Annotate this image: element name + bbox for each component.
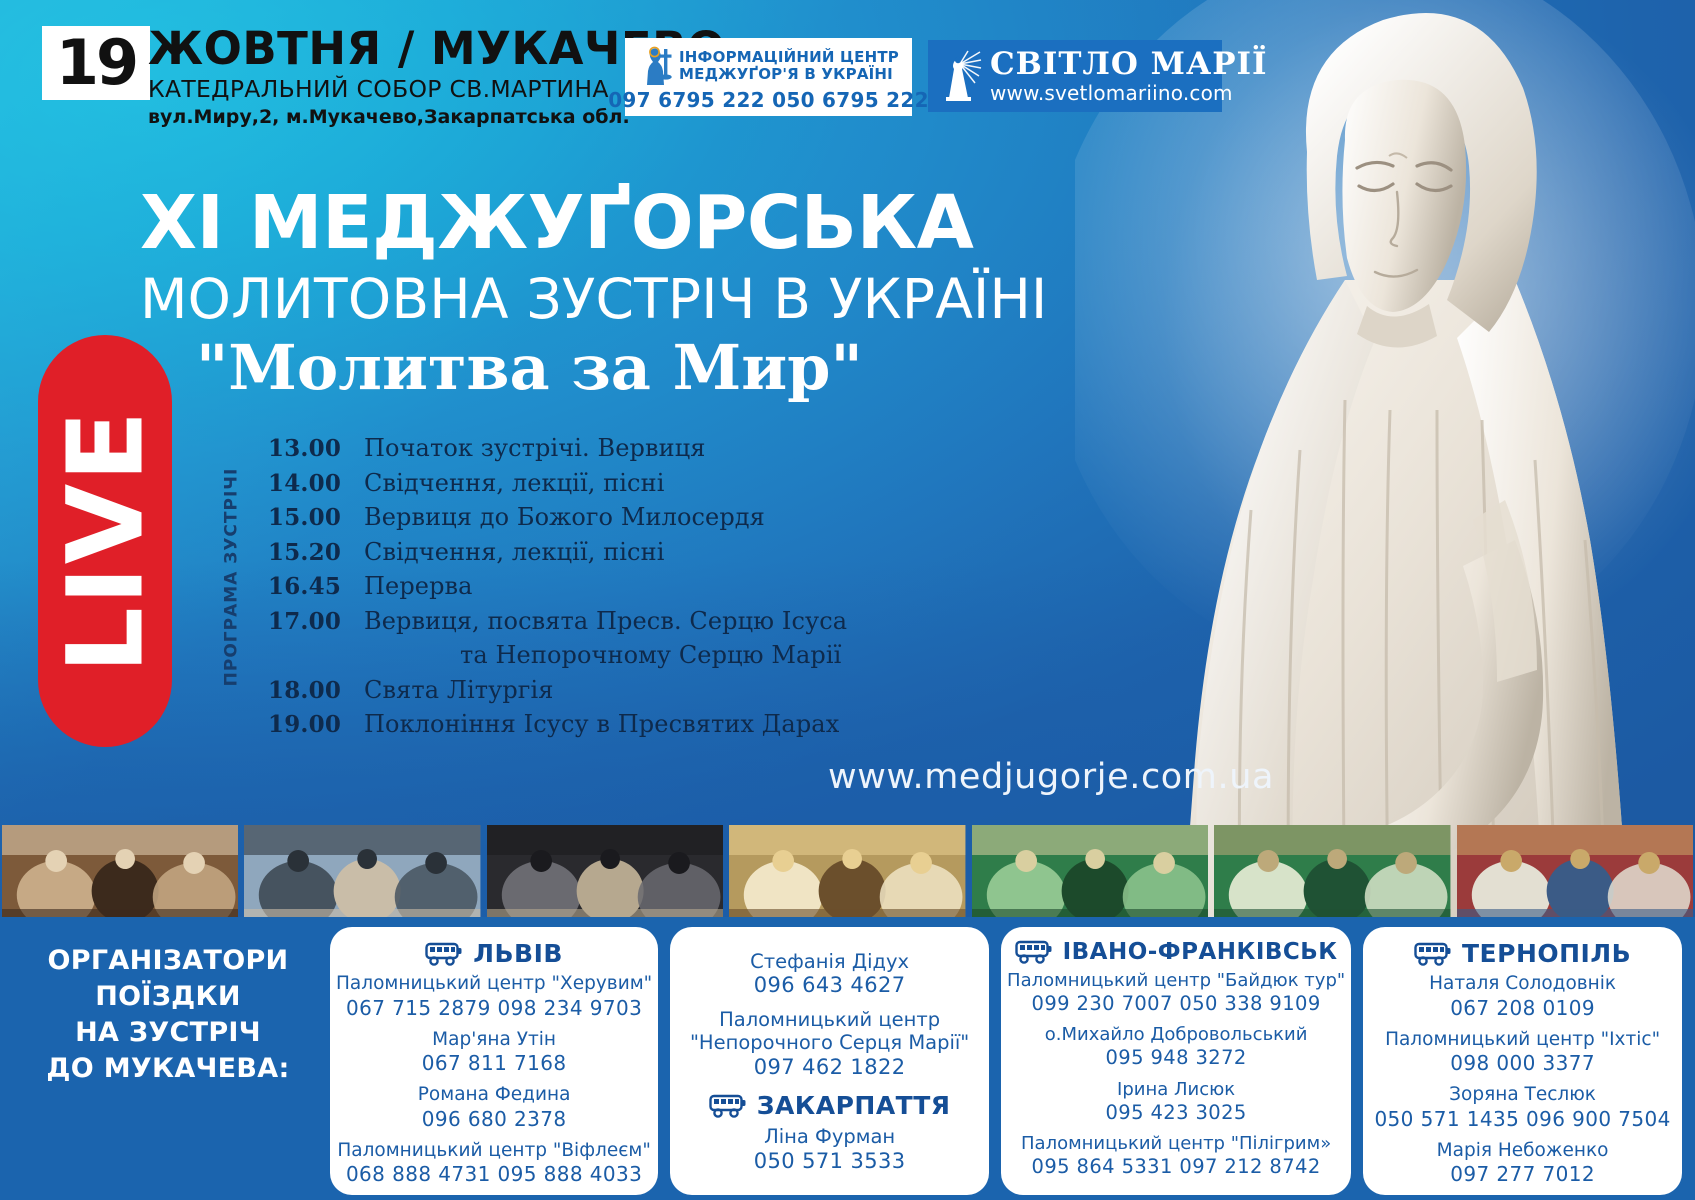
schedule-row: 19.00Поклоніння Ісусу в Пресвятих Дарах: [268, 710, 888, 745]
organizer-city-row: ЛЬВІВ: [425, 939, 563, 968]
organizer-contact-name: о.Михайло Добровольський: [1045, 1024, 1308, 1046]
organizer-city-name: ЗАКАРПАТТЯ: [757, 1091, 951, 1120]
svitlo-marii-title: СВІТЛО МАРІЇ: [990, 49, 1268, 80]
info-center-line2: МЕДЖУҐОР'Я В УКРАЇНІ: [679, 66, 899, 83]
organizers-heading-line: ОРГАНІЗАТОРИ: [18, 943, 318, 979]
organizer-contact-phone[interactable]: 068 888 4731 095 888 4033: [337, 1162, 651, 1186]
organizer-contact-phone[interactable]: 098 000 3377: [1385, 1051, 1660, 1075]
schedule-row: 18.00Свята Літургія: [268, 676, 888, 711]
schedule-description: Свята Літургія: [364, 676, 554, 704]
event-day-box: 19: [42, 26, 150, 100]
photo-strip: [0, 825, 1695, 917]
programme-schedule: 13.00Початок зустрічі. Вервиця14.00Свідч…: [268, 434, 888, 745]
svitlo-marii-url[interactable]: www.svetlomariino.com: [990, 83, 1268, 103]
poster-title-line2: МОЛИТОВНА ЗУСТРІЧ В УКРАЇНІ: [140, 272, 1047, 327]
schedule-time: 15.20: [268, 539, 364, 566]
organizer-contact-phone[interactable]: 067 208 0109: [1429, 996, 1616, 1020]
schedule-time: 13.00: [268, 435, 364, 462]
bus-icon: [425, 941, 463, 967]
organizer-contact-name: Зоряна Теслюк: [1374, 1084, 1670, 1107]
organizer-contact-name: Стефанія Дідух: [750, 950, 909, 974]
organizers-heading-line: НА ЗУСТРІЧ: [18, 1015, 318, 1051]
organizer-contact-block: Зоряна Теслюк050 571 1435 096 900 7504: [1374, 1084, 1670, 1131]
organizer-contact-block: Наталя Солодовнік067 208 0109: [1429, 973, 1616, 1020]
organizer-contact-phone[interactable]: 095 423 3025: [1105, 1101, 1246, 1124]
schedule-time: 14.00: [268, 470, 364, 497]
organizers-section: ОРГАНІЗАТОРИПОЇЗДКИНА ЗУСТРІЧДО МУКАЧЕВА…: [0, 917, 1695, 1200]
organizer-contact-block: Романа Федина096 680 2378: [418, 1084, 571, 1131]
organizer-contact-phone[interactable]: 095 864 5331 097 212 8742: [1021, 1155, 1331, 1178]
organizer-card: Стефанія Дідух096 643 4627Паломницький ц…: [670, 927, 989, 1195]
organizers-heading-line: ПОЇЗДКИ: [18, 979, 318, 1015]
poster-title-line1: XI МЕДЖУҐОРСЬКА: [140, 186, 973, 260]
schedule-description: Свідчення, лекції, пісні: [364, 469, 664, 497]
photo-altar-monstrance: [729, 825, 965, 917]
photo-bishops-in-green: [972, 825, 1208, 917]
schedule-description: Перерва: [364, 572, 473, 600]
organizer-contact-phone[interactable]: 067 811 7168: [422, 1051, 567, 1075]
organizer-city-name: ТЕРНОПІЛЬ: [1462, 939, 1631, 968]
organizer-contact-phone[interactable]: 096 680 2378: [418, 1107, 571, 1131]
poster-title-line3: "Молитва за Мир": [196, 337, 863, 399]
organizer-contact-name: Паломницький центр "Іхтіс": [1385, 1029, 1660, 1052]
organizer-contact-phone[interactable]: 097 277 7012: [1437, 1162, 1609, 1186]
schedule-time: 15.00: [268, 504, 364, 531]
photo-liturgy-celebration: [1457, 825, 1693, 917]
programme-vertical-label: ПРОГРАМА ЗУСТРІЧІ: [216, 437, 246, 717]
organizer-contact-name: Паломницький центр "Пілігрим»: [1021, 1133, 1331, 1155]
schedule-description: та Непорочному Серцю Марії: [364, 641, 841, 669]
organizer-contact-block: Ліна Фурман050 571 3533: [754, 1125, 906, 1174]
schedule-row: та Непорочному Серцю Марії: [268, 641, 888, 676]
organizer-contact-phone[interactable]: 050 571 1435 096 900 7504: [1374, 1107, 1670, 1131]
programme-label-text: ПРОГРАМА ЗУСТРІЧІ: [221, 468, 241, 687]
schedule-row: 15.20Свідчення, лекції, пісні: [268, 538, 888, 573]
svitlo-marii-logo[interactable]: СВІТЛО МАРІЇ www.svetlomariino.com: [928, 40, 1222, 112]
bus-icon: [709, 1093, 747, 1119]
organizer-city-name: ІВАНО-ФРАНКІВСЬК: [1063, 939, 1338, 965]
radiant-statue-icon: [940, 50, 982, 102]
photo-clergy-in-black: [487, 825, 723, 917]
organizer-contact-phone[interactable]: 096 643 4627: [750, 973, 909, 998]
organizer-contact-block: Паломницький центр "Віфлеєм"068 888 4731…: [337, 1140, 651, 1187]
schedule-row: 14.00Свідчення, лекції, пісні: [268, 469, 888, 504]
live-badge: LIVE: [38, 335, 172, 747]
event-website[interactable]: www.medjugorje.com.ua: [828, 757, 1274, 797]
schedule-description: Поклоніння Ісусу в Пресвятих Дарах: [364, 710, 839, 738]
organizer-contact-phone[interactable]: 067 715 2879 098 234 9703: [336, 996, 652, 1020]
organizer-contact-phone[interactable]: 099 230 7007 050 338 9109: [1007, 992, 1345, 1015]
organizer-contact-block: Ірина Лисюк095 423 3025: [1105, 1079, 1246, 1124]
organizer-contact-phone[interactable]: 095 948 3272: [1045, 1046, 1308, 1069]
schedule-row: 13.00Початок зустрічі. Вервиця: [268, 434, 888, 469]
organizer-contact-name: Паломницький центр "Байдюк тур": [1007, 970, 1345, 992]
schedule-time: 17.00: [268, 608, 364, 635]
schedule-time: 18.00: [268, 677, 364, 704]
organizer-contact-name: Ірина Лисюк: [1105, 1079, 1246, 1101]
organizers-heading: ОРГАНІЗАТОРИПОЇЗДКИНА ЗУСТРІЧДО МУКАЧЕВА…: [18, 943, 318, 1087]
organizer-contact-name: Паломницький центр: [690, 1008, 969, 1032]
organizer-city-row: ТЕРНОПІЛЬ: [1414, 939, 1631, 968]
organizer-card: ТЕРНОПІЛЬНаталя Солодовнік067 208 0109Па…: [1363, 927, 1682, 1195]
bus-icon: [1015, 939, 1053, 965]
organizer-contact-phone[interactable]: 097 462 1822: [690, 1055, 969, 1080]
organizer-contact-block: Мар'яна Утін067 811 7168: [422, 1029, 567, 1076]
organizer-city-name: ЛЬВІВ: [473, 939, 563, 968]
organizer-cards: ЛЬВІВПаломницький центр "Херувим"067 715…: [330, 927, 1682, 1195]
poster-root: 19 ЖОВТНЯ / МУКАЧЕВО КАТЕДРАЛЬНИЙ СОБОР …: [0, 0, 1695, 1200]
schedule-row: 15.00Вервиця до Божого Милосердя: [268, 503, 888, 538]
organizer-contact-name: Паломницький центр "Херувим": [336, 973, 652, 996]
schedule-row: 16.45Перерва: [268, 572, 888, 607]
schedule-row: 17.00Вервиця, посвята Пресв. Серцю Ісуса: [268, 607, 888, 642]
schedule-time: 19.00: [268, 711, 364, 738]
organizer-contact-name: Мар'яна Утін: [422, 1029, 567, 1052]
organizer-contact-name: Наталя Солодовнік: [1429, 973, 1616, 996]
organizer-card: ІВАНО-ФРАНКІВСЬКПаломницький центр "Байд…: [1001, 927, 1351, 1195]
info-center-phones: 097 6795 222 050 6795 222: [608, 88, 929, 112]
photo-priests-at-altar: [1214, 825, 1450, 917]
organizer-card: ЛЬВІВПаломницький центр "Херувим"067 715…: [330, 927, 658, 1195]
photo-woman-and-man-seated: [244, 825, 480, 917]
bus-icon: [1414, 941, 1452, 967]
organizer-contact-name-2: "Непорочного Серця Марії": [690, 1031, 969, 1055]
schedule-description: Вервиця до Божого Милосердя: [364, 503, 765, 531]
live-badge-label: LIVE: [44, 409, 166, 674]
organizer-contact-phone[interactable]: 050 571 3533: [754, 1149, 906, 1174]
info-center-line1: ІНФОРМАЦІЙНИЙ ЦЕНТР: [679, 49, 899, 66]
organizer-contact-block: Паломницький центр"Непорочного Серця Мар…: [690, 1008, 969, 1081]
schedule-description: Вервиця, посвята Пресв. Серцю Ісуса: [364, 607, 847, 635]
madonna-cross-icon: [638, 45, 672, 87]
schedule-time: 16.45: [268, 573, 364, 600]
organizer-contact-block: Паломницький центр "Байдюк тур"099 230 7…: [1007, 970, 1345, 1015]
event-day: 19: [56, 32, 136, 94]
organizer-contact-block: Марія Небоженко097 277 7012: [1437, 1140, 1609, 1187]
organizer-contact-block: Паломницький центр "Іхтіс"098 000 3377: [1385, 1029, 1660, 1076]
organizer-contact-block: Паломницький центр "Херувим"067 715 2879…: [336, 973, 652, 1020]
organizer-contact-block: Паломницький центр "Пілігрим»095 864 533…: [1021, 1133, 1331, 1178]
organizer-city-row: ЗАКАРПАТТЯ: [709, 1091, 951, 1120]
schedule-description: Свідчення, лекції, пісні: [364, 538, 664, 566]
photo-congregation-church: [2, 825, 238, 917]
organizer-contact-name: Романа Федина: [418, 1084, 571, 1107]
organizer-city-row: ІВАНО-ФРАНКІВСЬК: [1015, 939, 1338, 965]
info-center-logo: ІНФОРМАЦІЙНИЙ ЦЕНТР МЕДЖУҐОР'Я В УКРАЇНІ…: [625, 38, 912, 116]
organizer-contact-block: Стефанія Дідух096 643 4627: [750, 950, 909, 999]
organizer-contact-name: Паломницький центр "Віфлеєм": [337, 1140, 651, 1163]
organizer-contact-name: Марія Небоженко: [1437, 1140, 1609, 1163]
schedule-description: Початок зустрічі. Вервиця: [364, 434, 705, 462]
organizer-contact-name: Ліна Фурман: [754, 1125, 906, 1149]
poster-header: 19 ЖОВТНЯ / МУКАЧЕВО КАТЕДРАЛЬНИЙ СОБОР …: [0, 0, 1695, 140]
organizers-heading-line: ДО МУКАЧЕВА:: [18, 1051, 318, 1087]
organizer-contact-block: о.Михайло Добровольський095 948 3272: [1045, 1024, 1308, 1069]
